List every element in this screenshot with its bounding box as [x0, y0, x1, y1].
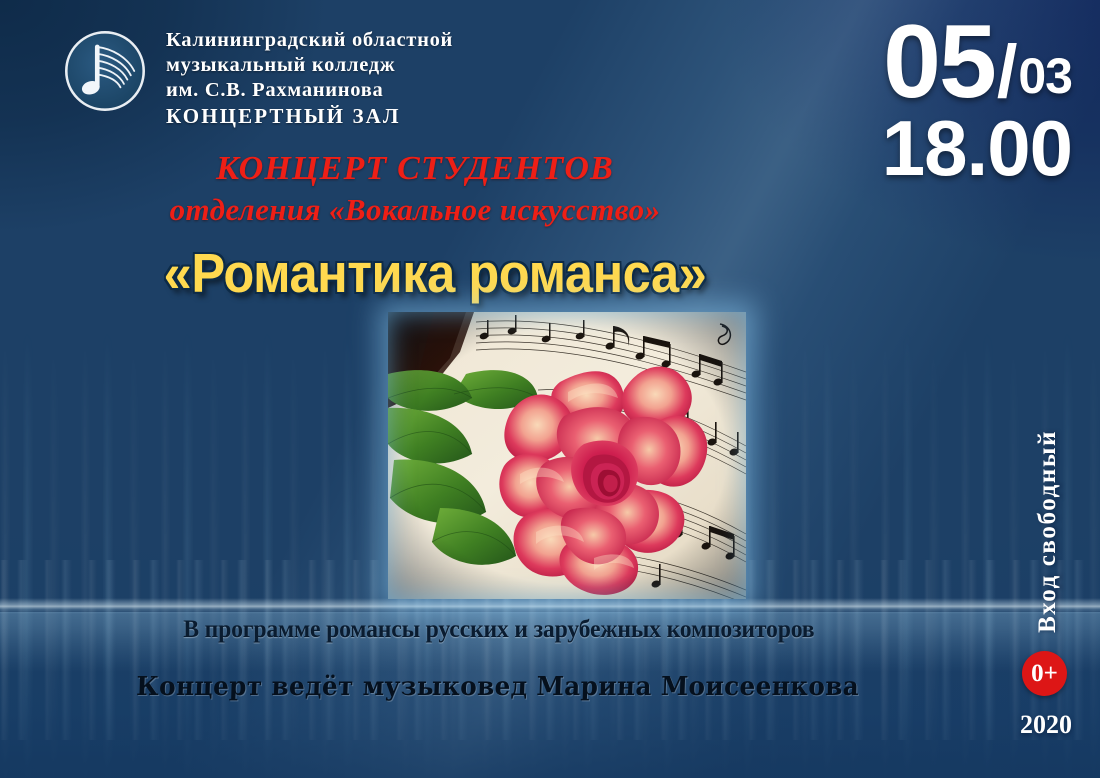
event-date-row: 05 / 03 — [882, 18, 1072, 107]
org-line-4-concert-hall: КОНЦЕРТНЫЙ ЗАЛ — [166, 103, 453, 130]
age-rating-badge: 0+ — [1022, 651, 1067, 696]
music-note-circle-logo-icon — [62, 28, 148, 114]
concert-heading-line-2: отделения «Вокальное искусство» — [0, 192, 1100, 228]
entry-free-label: Вход свободный — [1034, 430, 1062, 633]
org-line-3: им. С.В. Рахманинова — [166, 78, 453, 103]
rose-on-sheet-music-photo — [388, 312, 746, 599]
year-label: 2020 — [1020, 710, 1072, 740]
org-line-1: Калининградский областной — [166, 28, 453, 53]
org-line-2: музыкальный колледж — [166, 53, 453, 78]
concert-poster: Калининградский областной музыкальный ко… — [0, 0, 1100, 778]
event-month: 03 — [1018, 51, 1072, 107]
background-bottom-shade — [0, 628, 1100, 778]
event-day: 05 — [883, 18, 995, 107]
poster-header: Калининградский областной музыкальный ко… — [62, 26, 453, 130]
organization-name: Калининградский областной музыкальный ко… — [166, 26, 453, 130]
program-description: В программе романсы русских и зарубежных… — [39, 614, 1062, 644]
host-line: Концерт ведёт музыковед Марина Моисеенко… — [27, 672, 1073, 702]
concert-heading-line-1: КОНЦЕРТ СТУДЕНТОВ — [0, 150, 1100, 188]
date-separator: / — [997, 39, 1018, 106]
page-title: «Романтика романса» — [44, 241, 1056, 305]
